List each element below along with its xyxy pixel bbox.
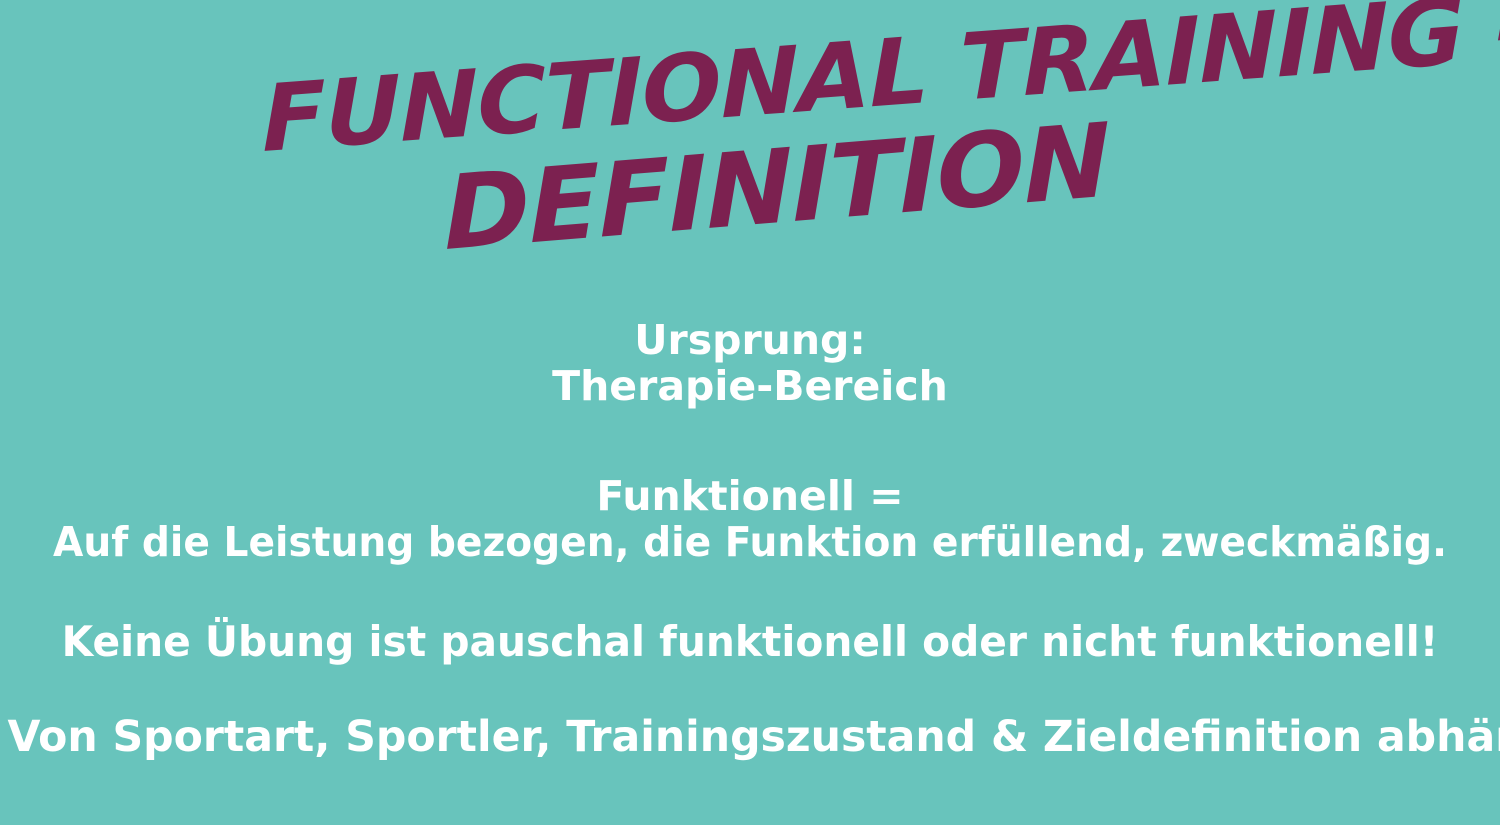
functional-definition: Auf die Leistung bezogen, die Funktion e… <box>34 520 1467 566</box>
heading-line-2: Definition <box>440 112 1101 266</box>
functional-block: Funktionell = Auf die Leistung bezogen, … <box>0 474 1500 566</box>
heading-line-2-text: Definition <box>443 110 1111 266</box>
slide-heading: Functional Training - Definition <box>0 52 1500 302</box>
statement-block: Keine Übung ist pauschal funktionell ode… <box>0 618 1500 665</box>
functional-label: Funktionell = <box>0 474 1500 520</box>
statement-text: Keine Übung ist pauschal funktionell ode… <box>23 618 1478 665</box>
dependency-text: Von Sportart, Sportler, Trainingszustand… <box>8 713 1493 761</box>
origin-label: Ursprung: <box>0 318 1500 364</box>
origin-value: Therapie-Bereich <box>0 364 1500 410</box>
heading-line-1: Functional Training - <box>259 0 1500 166</box>
slide-canvas: Functional Training - Definition Ursprun… <box>0 0 1500 825</box>
heading-line-1-text: Functional Training - <box>261 0 1500 166</box>
slide-body: Ursprung: Therapie-Bereich Funktionell =… <box>0 318 1500 761</box>
origin-block: Ursprung: Therapie-Bereich <box>0 318 1500 410</box>
dependency-block: Von Sportart, Sportler, Trainingszustand… <box>0 713 1500 761</box>
